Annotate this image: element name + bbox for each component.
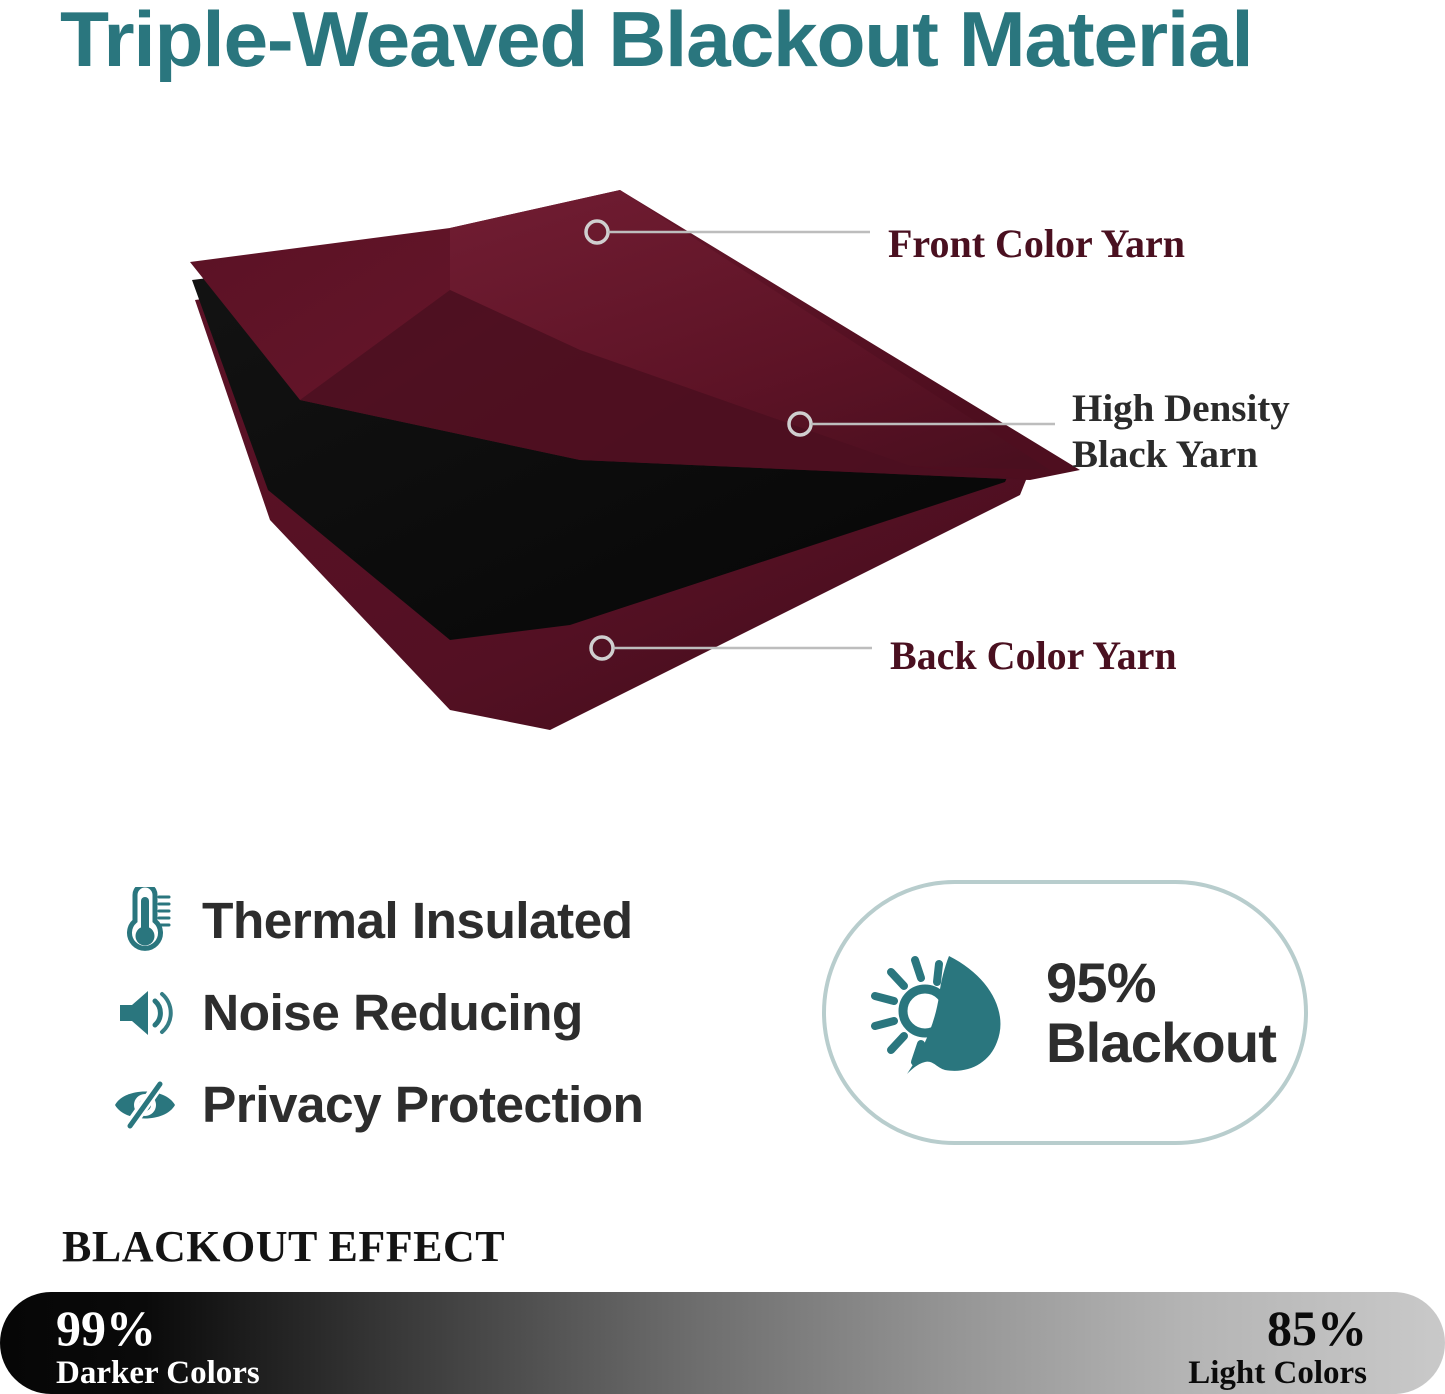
feature-thermal-insulated: Thermal Insulated <box>108 878 748 964</box>
feature-label-noise-reducing: Noise Reducing <box>202 985 583 1041</box>
callout-black-line1: High Density <box>1072 387 1290 430</box>
blackout-effect-darker: 99% Darker Colors <box>56 1302 260 1392</box>
callout-black-line2: Black Yarn <box>1072 432 1290 478</box>
sun-blocked-icon <box>858 933 1038 1093</box>
darker-label: Darker Colors <box>56 1354 260 1392</box>
callout-back-color-yarn: Back Color Yarn <box>890 632 1177 680</box>
blackout-percent: 95% <box>1046 953 1276 1013</box>
callout-high-density-black-yarn: High Density Black Yarn <box>1072 386 1290 478</box>
blackout-effect-light: 85% Light Colors <box>1188 1302 1367 1392</box>
feature-list: Thermal Insulated Noise Reducing <box>108 878 748 1154</box>
thermometer-icon <box>108 883 182 959</box>
darker-percent: 99% <box>56 1302 260 1354</box>
blackout-badge-text: 95% Blackout <box>1046 953 1276 1073</box>
feature-label-thermal-insulated: Thermal Insulated <box>202 893 633 949</box>
page-title: Triple-Weaved Blackout Material <box>60 0 1445 82</box>
infographic-page: Triple-Weaved Blackout Material <box>0 0 1445 1394</box>
callout-front-color-yarn: Front Color Yarn <box>888 220 1185 268</box>
eye-slash-icon <box>108 1067 182 1143</box>
light-percent: 85% <box>1188 1302 1367 1354</box>
feature-label-privacy-protection: Privacy Protection <box>202 1077 643 1133</box>
light-label: Light Colors <box>1188 1354 1367 1392</box>
blackout-badge: 95% Blackout <box>822 880 1308 1145</box>
blackout-word: Blackout <box>1046 1013 1276 1073</box>
blackout-effect-heading: BLACKOUT EFFECT <box>62 1222 505 1272</box>
feature-noise-reducing: Noise Reducing <box>108 970 748 1056</box>
speaker-icon <box>108 975 182 1051</box>
feature-privacy-protection: Privacy Protection <box>108 1062 748 1148</box>
